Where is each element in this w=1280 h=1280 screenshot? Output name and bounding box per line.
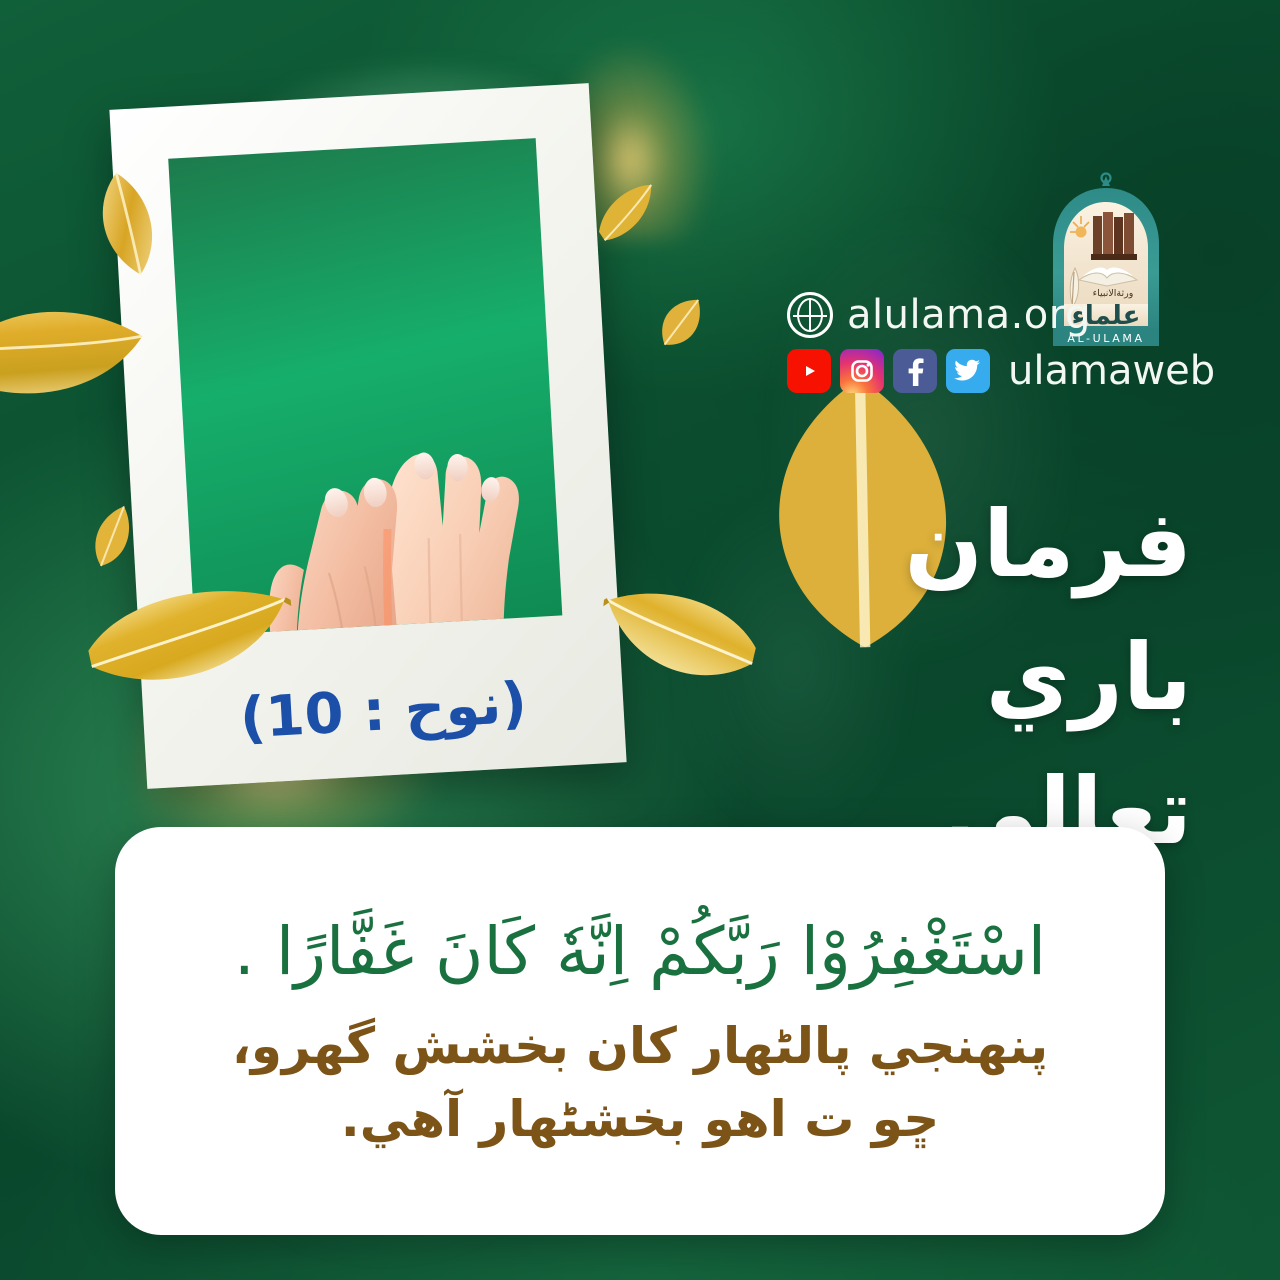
poster-canvas: (نوح : 10) bbox=[0, 0, 1280, 1280]
page-title-line1: فرمان باري bbox=[752, 478, 1192, 745]
social-handle: ulamaweb bbox=[1008, 348, 1215, 394]
instagram-icon[interactable] bbox=[840, 349, 884, 393]
verse-arabic: اسْتَغْفِرُوْا رَبَّكُمْ اِنَّهٗ كَانَ غ… bbox=[234, 907, 1046, 996]
svg-text:ورثةالانبياء: ورثةالانبياء bbox=[1093, 288, 1134, 299]
translation-line-1: پنهنجي پالڻهار کان بخشش گهرو، bbox=[232, 1010, 1048, 1083]
social-links-row[interactable]: ulamaweb bbox=[787, 348, 1215, 394]
praying-hands-photo bbox=[168, 138, 562, 636]
youtube-icon[interactable] bbox=[787, 349, 831, 393]
website-url: alulama.org bbox=[847, 292, 1091, 338]
gold-leaf-large-bottomleft bbox=[79, 571, 299, 713]
globe-icon bbox=[787, 292, 833, 338]
translation-line-2: ڇو ت اهو بخشڻهار آهي. bbox=[341, 1083, 939, 1156]
facebook-icon[interactable] bbox=[893, 349, 937, 393]
page-title: فرمان باري تعالى bbox=[752, 478, 1192, 878]
website-line[interactable]: alulama.org bbox=[787, 292, 1091, 338]
verse-card: اسْتَغْفِرُوْا رَبَّكُمْ اِنَّهٗ كَانَ غ… bbox=[115, 827, 1165, 1235]
praying-hands-illustration bbox=[168, 138, 562, 636]
twitter-icon[interactable] bbox=[946, 349, 990, 393]
